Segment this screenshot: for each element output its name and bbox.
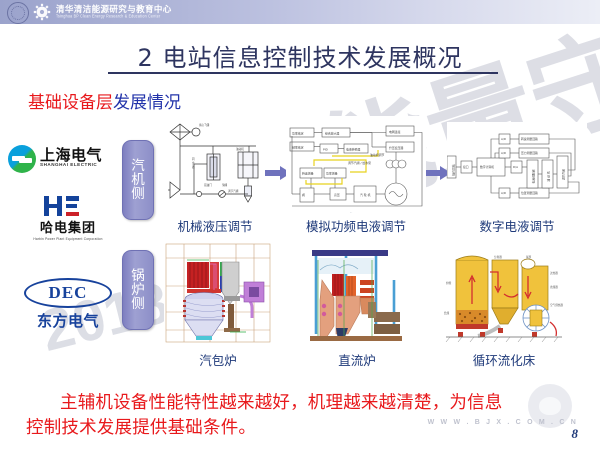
slide-canvas: 能量守恒（第一期） 2018 清华清洁能源研究与教育中心 Tsinghua [0,0,600,450]
shanghai-electric-mark-icon [8,145,36,173]
logo-shanghai-electric-en: SHANGHAI ELECTRIC [40,162,97,167]
svg-text:调节汽阀: 调节汽阀 [228,189,239,193]
svg-text:D/A: D/A [513,165,518,169]
boiler-char-3: 侧 [131,297,145,311]
svg-text:位置测量回路: 位置测量回路 [521,191,538,195]
svg-text:PID: PID [323,148,329,152]
conclusion-line-2: 控制技术发展提供基础条件。 [26,415,574,440]
title-underline [108,72,498,74]
header-brand-en: Tsinghua BP Clean Energy Research & Educ… [56,14,160,19]
svg-text:转速测量: 转速测量 [302,171,314,176]
sidebar-item-boiler-side: 锅 炉 侧 [122,250,154,330]
logo-harbin-electric-cn: 哈电集团 [30,217,106,236]
svg-text:省煤器: 省煤器 [550,285,558,289]
caption-drum-boiler: 汽包炉 [164,350,272,369]
svg-text:同: 同 [192,157,195,161]
section-subtitle: 基础设备层发展情况 [28,88,181,113]
svg-text:A/D: A/D [501,191,506,195]
svg-text:炉膛: 炉膛 [446,281,452,285]
svg-text:操作员站: 操作员站 [452,164,456,175]
svg-text:功率测量: 功率测量 [326,171,338,176]
dec-mark-icon: DEC [24,278,112,308]
caption-analog-electrohydraulic: 模拟功频电液调节 [286,216,426,235]
svg-text:A/D: A/D [501,137,506,141]
svg-text:阀: 阀 [302,192,305,197]
svg-text:油动机调节: 油动机调节 [370,152,385,157]
diagram-cfb-boiler: 炉膛 分离器 尾部 过热器 省煤器 空气预热器 给煤 [442,244,566,344]
svg-text:过热器: 过热器 [550,271,558,275]
svg-text:给煤: 给煤 [444,311,450,315]
svg-text:高压: 高压 [334,192,340,197]
svg-text:升压变压器: 升压变压器 [389,145,404,150]
svg-text:数字计算机: 数字计算机 [480,165,494,169]
diagram-analog-electrohydraulic: 功率给定 频率给定 综合放大器 PID 电液转换器 电网连接 升压变压器 转速测… [286,116,426,212]
logo-shanghai-electric: 上海电气 SHANGHAI ELECTRIC [8,143,114,177]
svg-text:油 动 机: 油 动 机 [547,171,551,181]
svg-text:器: 器 [192,165,195,169]
logo-dongfang-electric: DEC 东方电气 [24,278,112,326]
caption-mechanical-hydraulic: 机械液压调节 [166,216,264,235]
svg-text:尾部: 尾部 [526,255,532,259]
logo-dongfang-electric-cn: 东方电气 [24,310,112,331]
turbine-char-1: 汽 [131,159,145,173]
svg-text:滑阀: 滑阀 [222,183,228,187]
svg-text:频率给定: 频率给定 [292,145,304,150]
svg-text:调节汽阀: 调节汽阀 [562,169,566,180]
page-title: 2 电站信息控制技术发展概况 [0,38,600,73]
caption-once-through-boiler: 直流炉 [302,350,412,369]
svg-text:电液伺服阀: 电液伺服阀 [532,169,536,183]
svg-text:油动机: 油动机 [236,147,244,151]
svg-text:离心飞锤: 离心飞锤 [199,123,210,127]
svg-text:功率给定: 功率给定 [292,131,304,136]
diagram-digital-electrohydraulic: 操作员站 接口 数字计算机 D/A A/D A/D A/D 转速测量回路 压力测… [447,122,587,210]
turbine-char-2: 机 [131,173,145,187]
caption-digital-electrohydraulic: 数字电液调节 [447,216,587,235]
svg-text:调节汽阀 / 给水泵: 调节汽阀 / 给水泵 [348,160,371,165]
svg-text:分离器: 分离器 [494,255,502,259]
conclusion-line-1: 主辅机设备性能特性越来越好，机理越来越清楚，为信息 [26,392,503,412]
harbin-electric-mark-icon [30,196,106,216]
svg-text:A/D: A/D [501,151,506,155]
svg-text:错油门: 错油门 [204,183,212,187]
boiler-char-2: 炉 [131,283,145,297]
diagram-mechanical-hydraulic: 离心飞锤 同步器 错油门 滑阀 油动机 调节汽阀 [166,120,264,212]
logo-harbin-electric: 哈电集团 Harbin Power Plant Equipment Corpor… [30,196,106,236]
svg-text:电液转换器: 电液转换器 [346,147,361,152]
header-band: 清华清洁能源研究与教育中心 Tsinghua BP Clean Energy R… [0,0,600,24]
svg-text:压力测量回路: 压力测量回路 [521,151,538,155]
svg-text:步: 步 [192,161,195,165]
conclusion-text: 主辅机设备性能特性越来越好，机理越来越清楚，为信息 控制技术发展提供基础条件。 [26,390,574,441]
caption-cfb-boiler: 循环流化床 [442,350,566,369]
svg-text:综合放大器: 综合放大器 [325,131,340,136]
sidebar-item-turbine-side: 汽 机 侧 [122,140,154,220]
subtitle-red-part: 基础设备层 [28,93,113,112]
diagram-once-through-boiler [302,240,412,344]
svg-text:空气预热器: 空气预热器 [550,303,563,307]
gear-icon [33,3,51,21]
svg-text:电网连接: 电网连接 [389,129,401,134]
turbine-char-3: 侧 [131,187,145,201]
tsinghua-seal-icon [7,2,29,24]
boiler-char-1: 锅 [131,269,145,283]
svg-text:汽 轮 机: 汽 轮 机 [360,192,371,197]
diagram-drum-boiler [164,242,272,344]
svg-text:转速测量回路: 转速测量回路 [521,137,538,141]
subtitle-blue-part: 发展情况 [113,93,181,112]
logo-harbin-electric-en: Harbin Power Plant Equipment Corporation [30,237,106,241]
page-number: 8 [572,426,579,442]
svg-text:接口: 接口 [463,165,469,169]
